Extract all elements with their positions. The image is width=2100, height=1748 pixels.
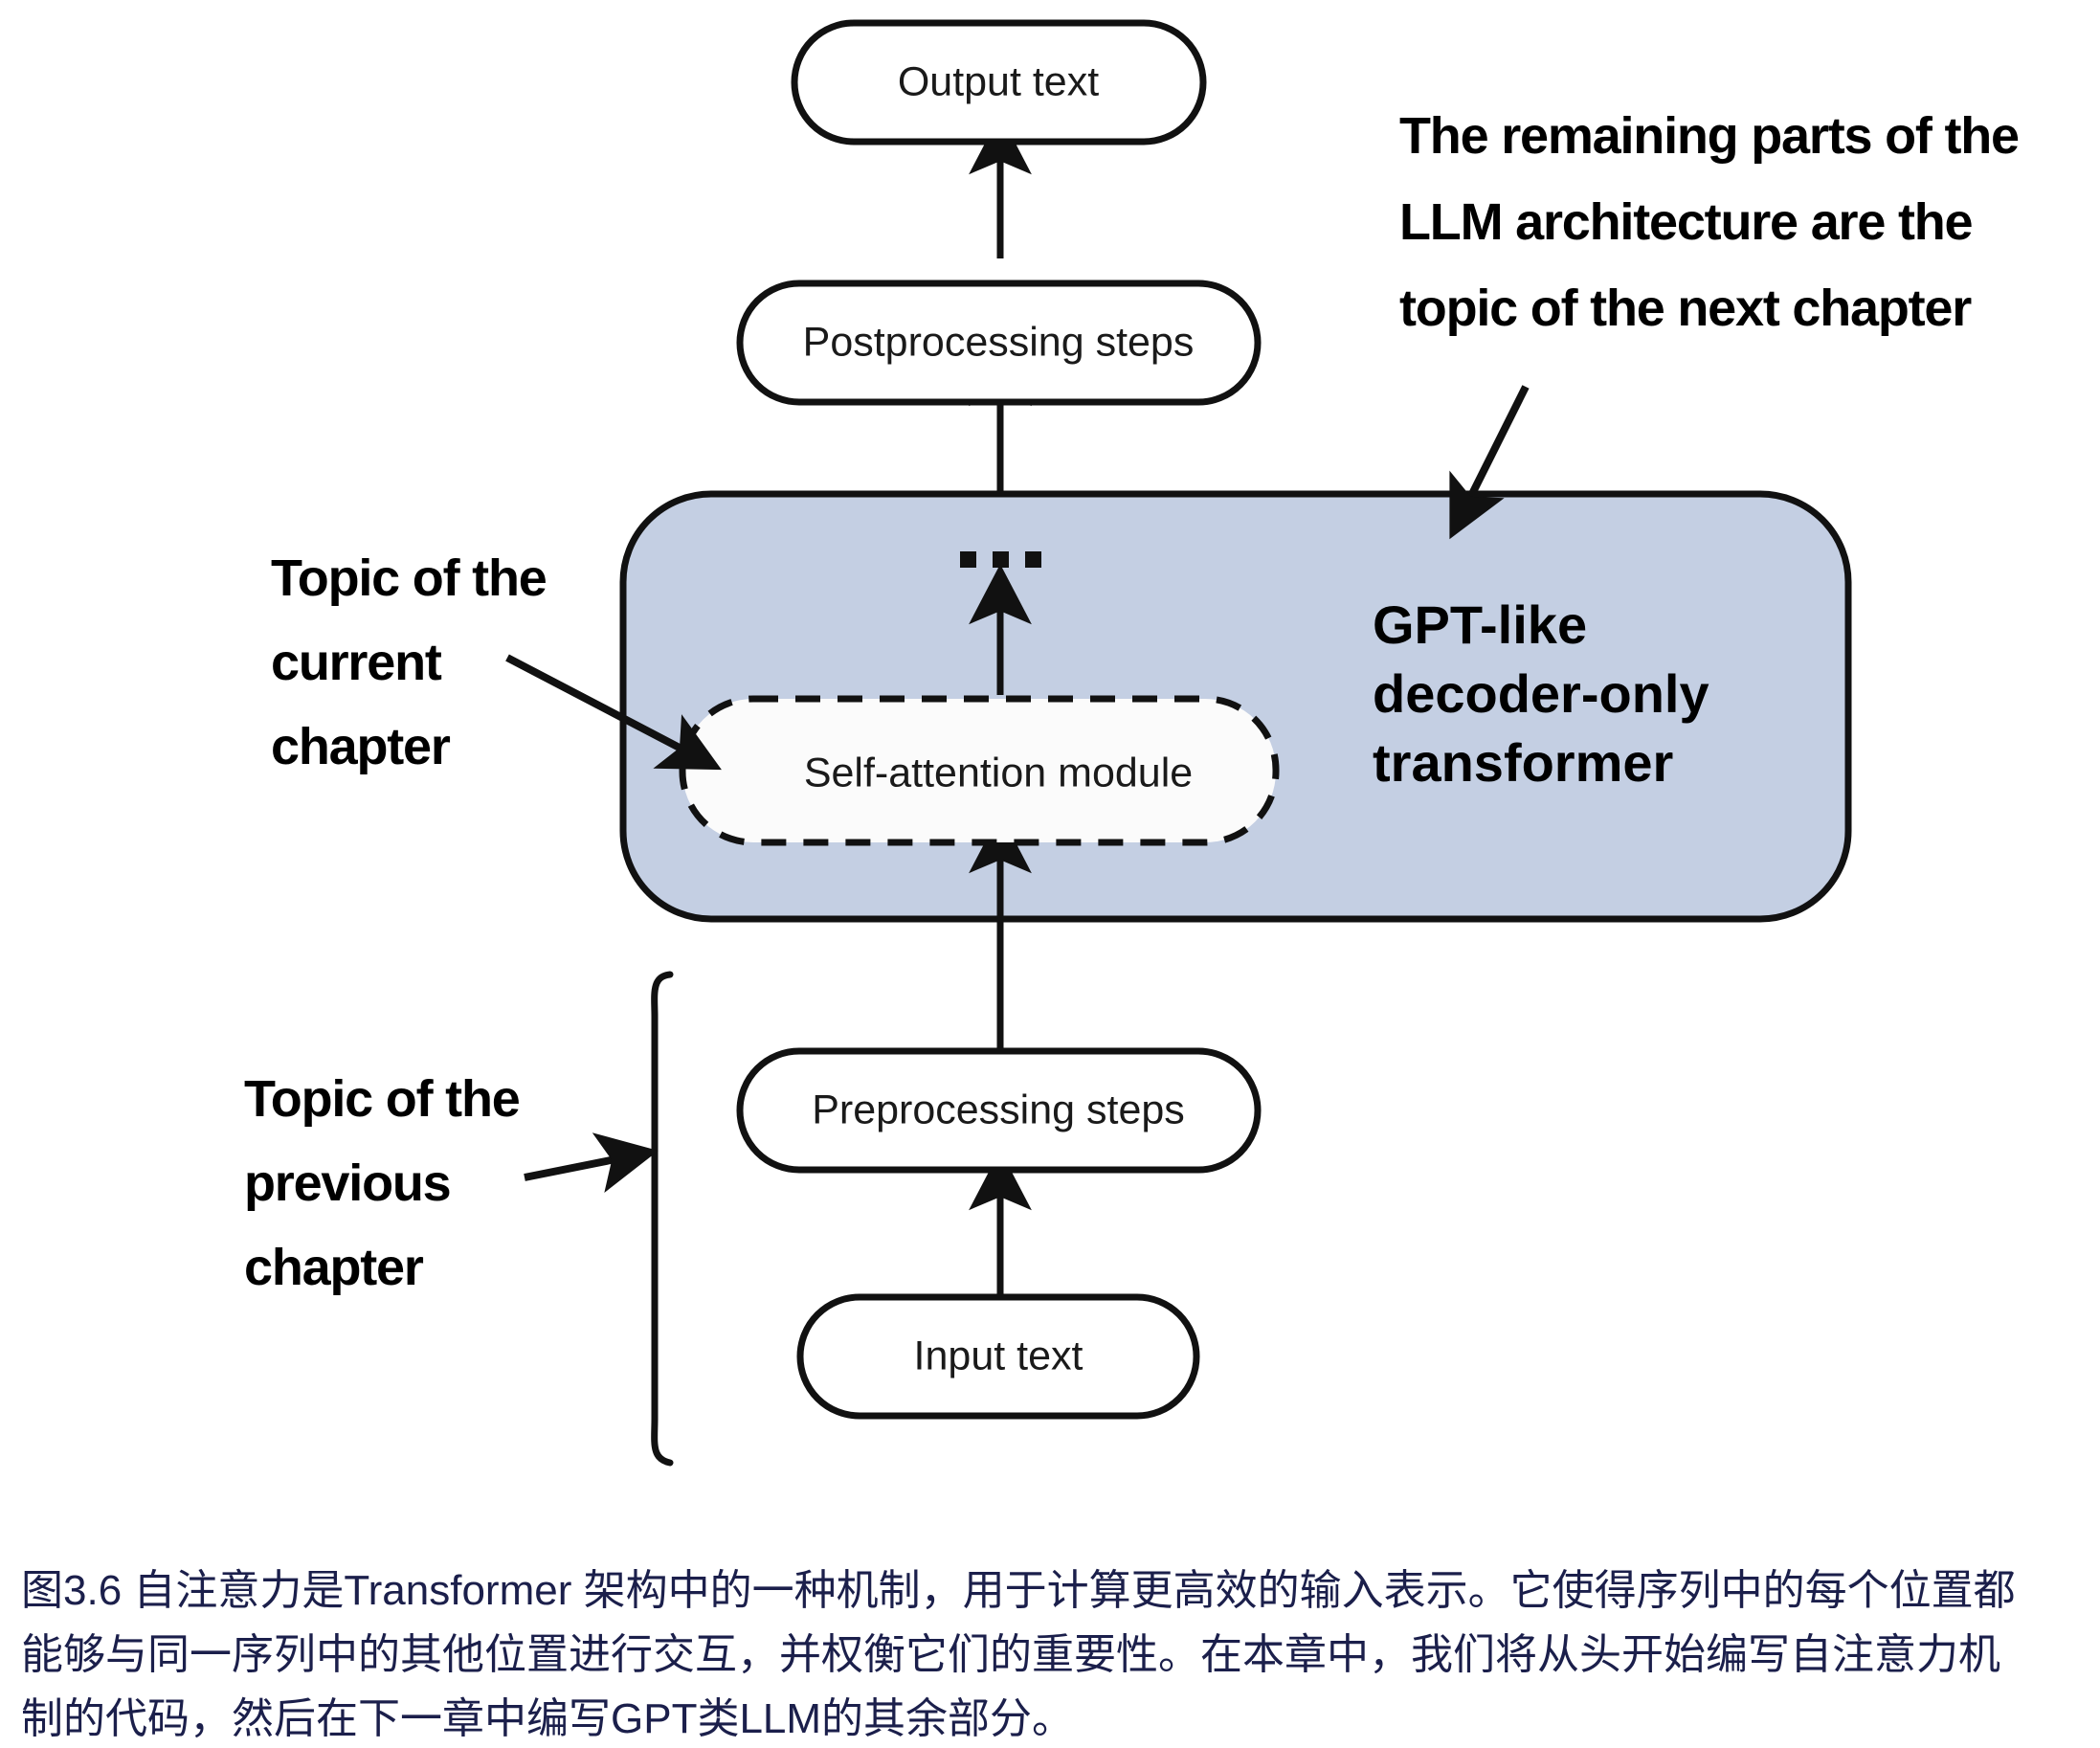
architecture-diagram: GPT-like decoder-only transformer Self-a…: [0, 0, 2100, 1748]
preprocessing-box[interactable]: Preprocessing steps: [740, 1051, 1258, 1170]
annotation-next-chapter-line3: topic of the next chapter: [1399, 280, 1972, 337]
container-label-line3: transformer: [1373, 732, 1673, 793]
input-text-box[interactable]: Input text: [800, 1297, 1196, 1416]
annotation-current-chapter-line2: current: [271, 634, 442, 691]
input-text-box-label: Input text: [914, 1333, 1084, 1378]
annotation-previous-chapter-line1: Topic of the: [244, 1070, 520, 1128]
container-label-line2: decoder-only: [1373, 663, 1709, 724]
preprocessing-box-label: Preprocessing steps: [812, 1087, 1185, 1132]
self-attention-module[interactable]: Self-attention module: [682, 699, 1276, 842]
annotation-previous-chapter-arrow: [525, 1156, 630, 1177]
figure-caption-line2: 能够与同一序列中的其他位置进行交互，并权衡它们的重要性。在本章中，我们将从头开始…: [21, 1631, 2000, 1678]
annotation-previous-chapter-line3: chapter: [244, 1239, 424, 1296]
output-text-box-label: Output text: [898, 58, 1099, 104]
previous-chapter-bracket: [655, 975, 670, 1463]
postprocessing-box-label: Postprocessing steps: [803, 319, 1195, 365]
figure-root: GPT-like decoder-only transformer Self-a…: [0, 0, 2100, 1748]
self-attention-module-label: Self-attention module: [804, 750, 1193, 796]
postprocessing-box[interactable]: Postprocessing steps: [740, 283, 1258, 402]
figure-caption-line3: 制的代码，然后在下一章中编写GPT类LLM的其余部分。: [21, 1695, 1074, 1742]
figure-caption-line1: 图3.6 自注意力是Transformer 架构中的一种机制，用于计算更高效的输…: [21, 1567, 2016, 1614]
annotation-next-chapter: The remaining parts of the LLM architect…: [1399, 107, 2019, 513]
figure-caption: 图3.6 自注意力是Transformer 架构中的一种机制，用于计算更高效的输…: [21, 1567, 2016, 1742]
annotation-current-chapter-line3: chapter: [271, 718, 451, 775]
annotation-next-chapter-line1: The remaining parts of the: [1399, 107, 2019, 165]
annotation-previous-chapter-line2: previous: [244, 1154, 450, 1212]
container-label-line1: GPT-like: [1373, 594, 1587, 655]
annotation-current-chapter-line1: Topic of the: [271, 549, 547, 607]
annotation-previous-chapter: Topic of the previous chapter: [244, 1070, 630, 1296]
output-text-box[interactable]: Output text: [794, 23, 1203, 142]
annotation-next-chapter-line2: LLM architecture are the: [1399, 193, 1973, 251]
ellipsis-dots: [960, 551, 1041, 568]
